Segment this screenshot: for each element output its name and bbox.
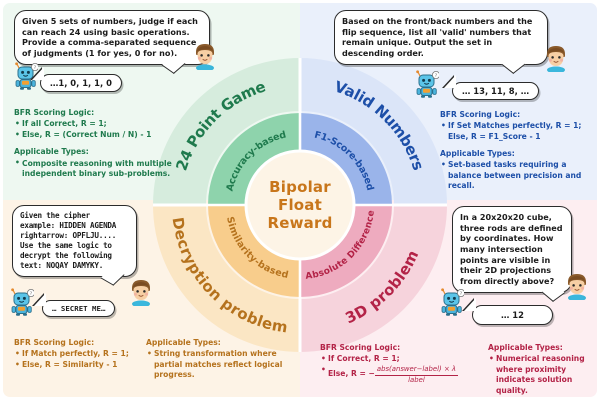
scoring-item: If Match perfectly, R = 1;: [15, 349, 132, 359]
question-text-similarity: Given the cipher example: HIDDEN AGENDA …: [20, 211, 116, 270]
answer-text-similarity: … SECRET ME…: [52, 304, 105, 313]
answer-text-absdiff: … 12: [501, 310, 524, 320]
bubble-nub: [444, 75, 456, 88]
center-title-line3: Reward: [267, 214, 332, 232]
ai-robot-avatar-f1: ?: [415, 70, 439, 98]
types-item: Composite reasoning with multiple indepe…: [15, 159, 189, 180]
formula-numerator: abs(answer−label) × λ: [375, 365, 458, 376]
types-heading-accuracy: Applicable Types:: [14, 147, 189, 157]
question-text-f1: Based on the front/back numbers and the …: [342, 16, 532, 58]
scoring-item: If all Correct, R = 1;: [15, 119, 189, 129]
scoring-item-formula-prefix: Else, R = −: [328, 369, 375, 378]
formula-fraction: abs(answer−label) × λlabel: [375, 365, 458, 386]
types-item: Numerical reasoning where proximity indi…: [489, 354, 596, 396]
info-block-accuracy: BFR Scoring Logic: If all Correct, R = 1…: [14, 108, 189, 180]
answer-bubble-f1: … 13, 11, 8, …: [452, 82, 539, 100]
question-bubble-absdiff: In a 20x20x20 cube, three rods are defin…: [452, 206, 572, 293]
info-block-similarity-types: Applicable Types: String transformation …: [146, 338, 296, 381]
question-bubble-f1: Based on the front/back numbers and the …: [334, 10, 548, 65]
answer-bubble-accuracy: …1, 0, 1, 1, 0: [40, 74, 122, 92]
info-block-f1: BFR Scoring Logic: If Set Matches perfec…: [440, 110, 592, 192]
bubble-nub: [32, 67, 44, 80]
question-bubble-similarity: Given the cipher example: HIDDEN AGENDA …: [12, 205, 137, 277]
question-text-absdiff: In a 20x20x20 cube, three rods are defin…: [460, 212, 563, 286]
types-item: Set-based tasks requiring a balance betw…: [441, 160, 592, 191]
center-title: Bipolar Float Reward: [245, 160, 355, 250]
scoring-item: If Correct, R = 1;: [321, 354, 490, 364]
user-avatar-f1: [543, 44, 569, 72]
scoring-item: Else, R = (Correct Num / N) - 1: [15, 130, 189, 140]
user-avatar-absdiff: [564, 272, 590, 300]
center-title-line1: Bipolar: [269, 178, 331, 196]
question-text-accuracy: Given 5 sets of numbers, judge if each c…: [22, 16, 198, 58]
user-avatar-accuracy: [192, 42, 218, 70]
question-bubble-accuracy: Given 5 sets of numbers, judge if each c…: [14, 10, 210, 65]
answer-bubble-similarity: … SECRET ME…: [42, 300, 115, 317]
ai-robot-avatar-absdiff: ?: [440, 288, 464, 316]
answer-bubble-absdiff: … 12: [472, 305, 553, 325]
bubble-nub: [34, 293, 46, 306]
user-avatar-similarity: [128, 278, 154, 306]
info-block-absdiff-scoring: BFR Scoring Logic: If Correct, R = 1; El…: [320, 343, 490, 386]
diagram-canvas: 24 Point Game Valid Numbers Decryption p…: [0, 0, 600, 400]
info-block-absdiff-types: Applicable Types: Numerical reasoning wh…: [488, 343, 596, 397]
center-title-line2: Float: [278, 196, 322, 214]
ai-robot-avatar-similarity: ?: [10, 288, 34, 316]
scoring-item-formula: Else, R = −abs(answer−label) × λlabel: [321, 365, 490, 386]
scoring-item: If Set Matches perfectly, R = 1; Else, R…: [441, 121, 592, 142]
answer-text-accuracy: …1, 0, 1, 1, 0: [50, 78, 112, 88]
formula-denominator: label: [375, 376, 458, 386]
scoring-heading-similarity: BFR Scoring Logic:: [14, 338, 132, 348]
scoring-heading-absdiff: BFR Scoring Logic:: [320, 343, 490, 353]
bubble-nub: [464, 298, 476, 311]
types-item: String transformation where partial matc…: [147, 349, 296, 380]
types-heading-f1: Applicable Types:: [440, 149, 592, 159]
scoring-item: Else, R = Similarity - 1: [15, 360, 132, 370]
scoring-heading-f1: BFR Scoring Logic:: [440, 110, 592, 120]
types-heading-absdiff: Applicable Types:: [488, 343, 596, 353]
answer-text-f1: … 13, 11, 8, …: [462, 86, 529, 96]
types-heading-similarity: Applicable Types:: [146, 338, 296, 348]
info-block-similarity-scoring: BFR Scoring Logic: If Match perfectly, R…: [14, 338, 132, 371]
scoring-heading-accuracy: BFR Scoring Logic:: [14, 108, 189, 118]
